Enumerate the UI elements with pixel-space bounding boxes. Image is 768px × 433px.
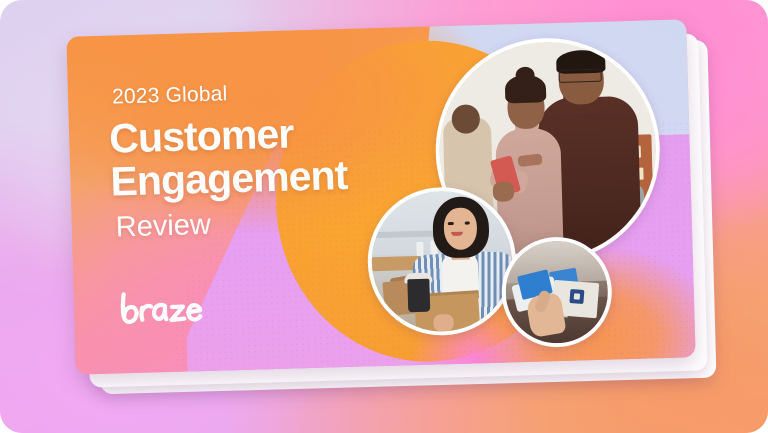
woman-eye xyxy=(448,222,454,225)
cover-graphic-stage: 2023 Global Customer Engagement Review xyxy=(0,0,768,433)
braze-logo xyxy=(118,288,205,332)
iced-coffee-cup xyxy=(407,278,430,312)
package-scene xyxy=(504,240,609,345)
cafe-scene xyxy=(370,189,514,333)
photo-woman-holding-takeout-boxes xyxy=(366,185,518,337)
man-glasses xyxy=(558,69,601,83)
package-label xyxy=(570,289,585,304)
braze-script-wordmark-icon xyxy=(118,288,205,332)
woman-eye xyxy=(465,221,471,224)
photo-hand-with-phone-and-package xyxy=(500,236,613,349)
woman-hand xyxy=(434,314,454,331)
cafe-cup xyxy=(416,242,423,256)
background-person-left-head xyxy=(451,105,480,134)
page-title: Customer Engagement xyxy=(109,108,451,203)
cover-sheet[interactable]: 2023 Global Customer Engagement Review xyxy=(66,19,695,374)
